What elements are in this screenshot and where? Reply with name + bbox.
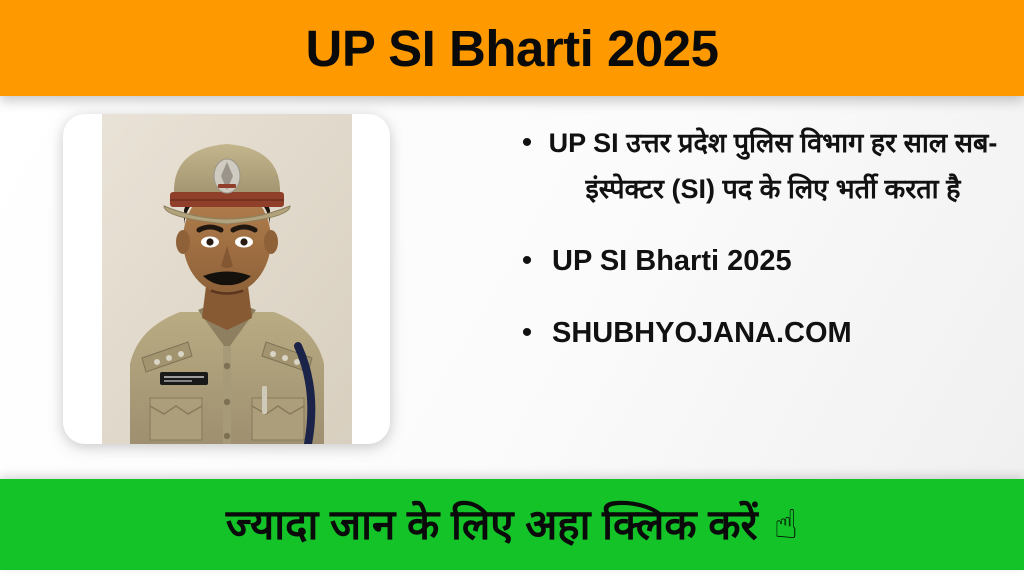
officer-photo-card	[63, 114, 390, 444]
list-item: • UP SI उत्तर प्रदेश पुलिस विभाग हर साल …	[512, 120, 1012, 212]
bullet-marker-icon: •	[512, 238, 542, 284]
bottom-strip	[0, 570, 1024, 576]
bullet-list: • UP SI उत्तर प्रदेश पुलिस विभाग हर साल …	[512, 106, 1012, 356]
header-bar: UP SI Bharti 2025	[0, 0, 1024, 96]
officer-photo	[102, 114, 352, 444]
bullet-text-3: SHUBHYOJANA.COM	[542, 310, 1012, 356]
page-title: UP SI Bharti 2025	[306, 23, 719, 74]
cta-label: ज्यादा जान के लिए अहा क्लिक करें	[226, 504, 758, 546]
cta-banner[interactable]: ज्यादा जान के लिए अहा क्लिक करें ☝	[0, 479, 1024, 570]
list-item: • UP SI Bharti 2025	[512, 238, 1012, 284]
bullet-marker-icon: •	[512, 310, 542, 356]
officer-portrait-illustration	[102, 114, 352, 444]
bullet-text-2: UP SI Bharti 2025	[542, 238, 1012, 284]
pointing-up-hand-icon: ☝	[774, 505, 798, 545]
content-area: • UP SI उत्तर प्रदेश पुलिस विभाग हर साल …	[0, 96, 1024, 479]
list-item: • SHUBHYOJANA.COM	[512, 310, 1012, 356]
poster-root: UP SI Bharti 2025	[0, 0, 1024, 576]
bullet-marker-icon: •	[512, 120, 542, 166]
bullet-text-1: UP SI उत्तर प्रदेश पुलिस विभाग हर साल सब…	[542, 120, 1012, 212]
